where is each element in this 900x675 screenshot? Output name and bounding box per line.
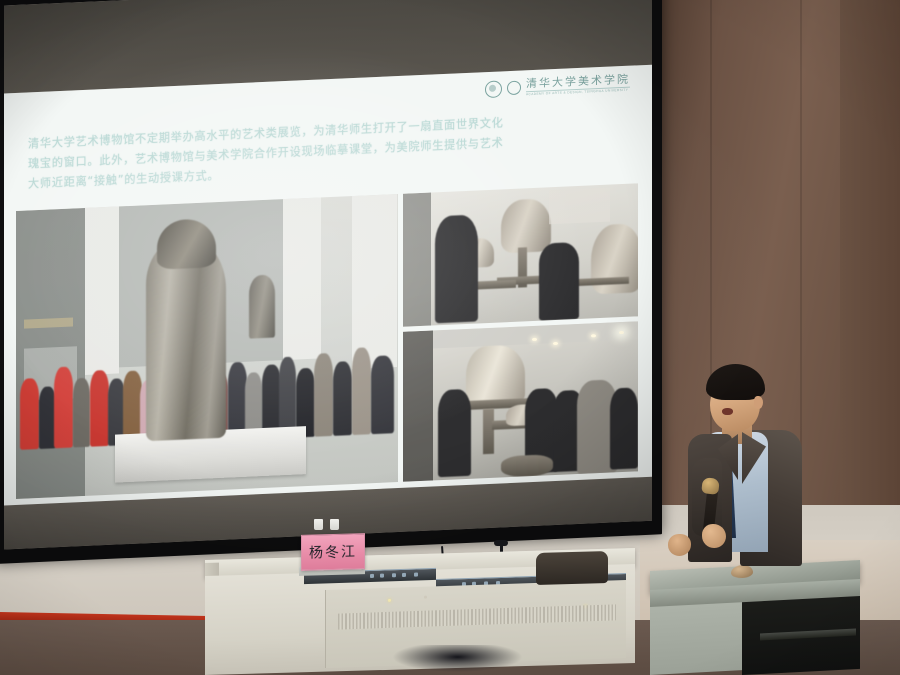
mouth xyxy=(722,408,733,415)
lecture-hall-photo: 清华大学美术学院 ACADEMY OF ARTS & DESIGN, TSING… xyxy=(0,0,900,675)
vent-grille xyxy=(338,604,616,629)
water-cup xyxy=(314,519,323,530)
nameplate: 杨冬江 xyxy=(301,533,365,571)
back-wall-far-right xyxy=(840,0,900,560)
presentation-slide: 清华大学美术学院 ACADEMY OF ARTS & DESIGN, TSING… xyxy=(4,65,652,506)
hair xyxy=(706,364,765,400)
slide-body-text: 清华大学艺术博物馆不定期举办高水平的艺术类展览，为清华师生打开了一扇直面世界文化… xyxy=(28,108,618,194)
slide-photo-grid xyxy=(16,183,638,499)
photo-sculpture-class-top xyxy=(403,183,639,327)
screen-surface: 清华大学美术学院 ACADEMY OF ARTS & DESIGN, TSING… xyxy=(4,0,652,550)
photo-sculpture-class-bottom xyxy=(403,322,639,482)
gesturing-hand xyxy=(668,534,691,556)
lectern-body xyxy=(650,595,742,675)
presenter xyxy=(664,352,824,580)
water-cup xyxy=(330,519,339,530)
nameplate-text: 杨冬江 xyxy=(309,541,357,562)
hand-holding-microphone xyxy=(702,524,726,548)
seal-inner-icon xyxy=(507,81,521,96)
projection-screen: 清华大学美术学院 ACADEMY OF ARTS & DESIGN, TSING… xyxy=(0,0,662,564)
photo-museum-hall xyxy=(16,194,398,499)
microphone-head-icon xyxy=(701,477,720,495)
cable-bundle xyxy=(390,645,540,675)
main-sculpture xyxy=(146,236,226,441)
tsinghua-seal-icon: 清华大学美术学院 ACADEMY OF ARTS & DESIGN, TSING… xyxy=(485,74,630,99)
ear xyxy=(754,396,763,409)
microphone-icon xyxy=(494,540,508,546)
chair-back[interactable] xyxy=(536,551,608,585)
seal-outer-icon xyxy=(485,80,502,98)
